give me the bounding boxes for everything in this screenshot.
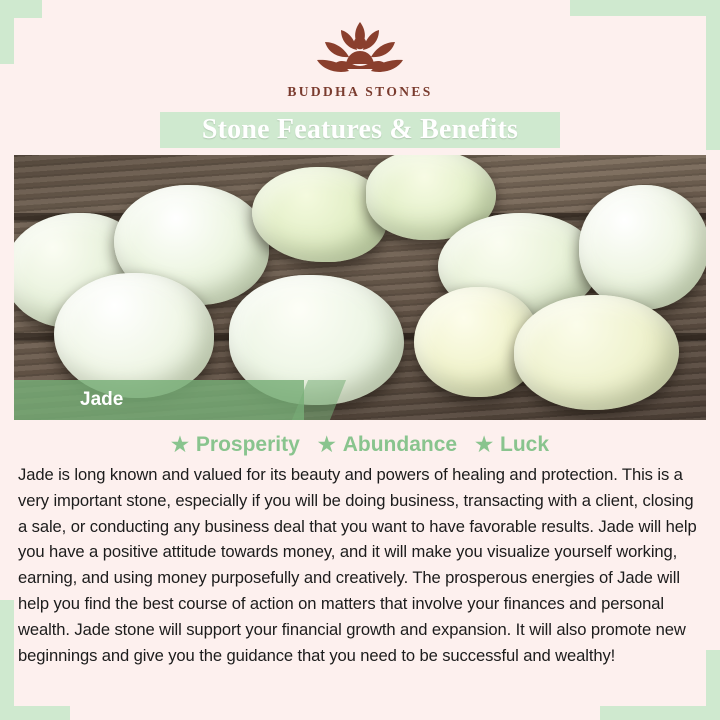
stone-name: Jade — [80, 380, 123, 420]
brand-name: BUDDHA STONES — [0, 84, 720, 100]
star-icon: ★ — [475, 435, 493, 455]
keyword-list: ★ Prosperity ★ Abundance ★ Luck — [0, 430, 720, 460]
star-icon: ★ — [171, 435, 189, 455]
keyword-item: ★ Abundance — [318, 433, 457, 457]
stone-info-card: BUDDHA STONES Stone Features & Benefits … — [0, 0, 720, 720]
corner-accent-top-right — [570, 0, 720, 16]
keyword-item: ★ Luck — [475, 433, 549, 457]
keyword-label: Luck — [500, 433, 549, 457]
jade-stone — [514, 295, 679, 410]
stone-name-ribbon — [14, 380, 304, 420]
keyword-item: ★ Prosperity — [171, 433, 300, 457]
corner-accent-bottom-left-vertical — [0, 600, 14, 720]
brand-logo: BUDDHA STONES — [0, 16, 720, 100]
corner-accent-bottom-right — [600, 706, 720, 720]
page-title: Stone Features & Benefits — [0, 112, 720, 148]
jade-stone — [579, 185, 706, 310]
description-text: Jade is long known and valued for its be… — [18, 462, 702, 668]
corner-accent-bottom-right-vertical — [706, 650, 720, 720]
star-icon: ★ — [318, 435, 336, 455]
lotus-meditation-figure-icon — [0, 16, 720, 78]
keyword-label: Prosperity — [196, 433, 300, 457]
keyword-label: Abundance — [343, 433, 457, 457]
